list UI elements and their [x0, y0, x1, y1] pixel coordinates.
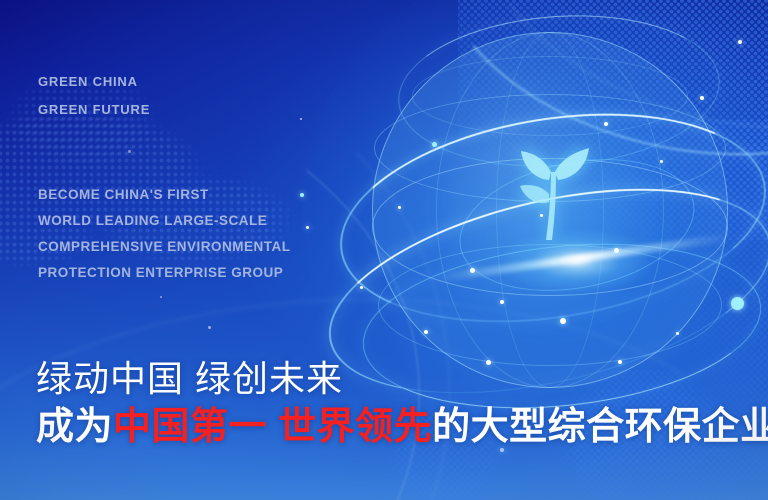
headline-prefix: 成为 [36, 406, 113, 448]
subhead-line-2: WORLD LEADING LARGE-SCALE [38, 208, 291, 234]
particle [300, 193, 304, 197]
particle-large [731, 297, 744, 310]
hero-banner: GREEN CHINA GREEN FUTURE BECOME CHINA'S … [0, 0, 768, 500]
headline-suffix: 的大型综合环保企业集团 [432, 406, 768, 448]
wireframe-globe [372, 32, 728, 388]
particle [306, 226, 309, 229]
particle [360, 286, 363, 289]
particle [738, 40, 742, 44]
subhead-line-1: BECOME CHINA'S FIRST [38, 182, 291, 208]
eyebrow-line-2: GREEN FUTURE [38, 96, 150, 124]
particle [160, 296, 162, 298]
particle [300, 118, 302, 120]
globe-sphere-body [372, 32, 728, 388]
subhead-line-3: COMPREHENSIVE ENVIRONMENTAL [38, 234, 291, 260]
eyebrow-text-block: GREEN CHINA GREEN FUTURE [38, 68, 150, 124]
particle [128, 150, 131, 153]
headline-accent: 中国第一 世界领先 [113, 406, 432, 448]
headline-block: 绿动中国 绿创未来 成为中国第一 世界领先的大型综合环保企业集团 [36, 356, 746, 452]
eyebrow-line-1: GREEN CHINA [38, 68, 150, 96]
headline-line-1: 绿动中国 绿创未来 [36, 356, 746, 402]
subhead-text-block: BECOME CHINA'S FIRST WORLD LEADING LARGE… [38, 182, 291, 286]
headline-line-2: 成为中国第一 世界领先的大型综合环保企业集团 [36, 402, 746, 452]
particle [208, 326, 211, 329]
subhead-line-4: PROTECTION ENTERPRISE GROUP [38, 260, 291, 286]
